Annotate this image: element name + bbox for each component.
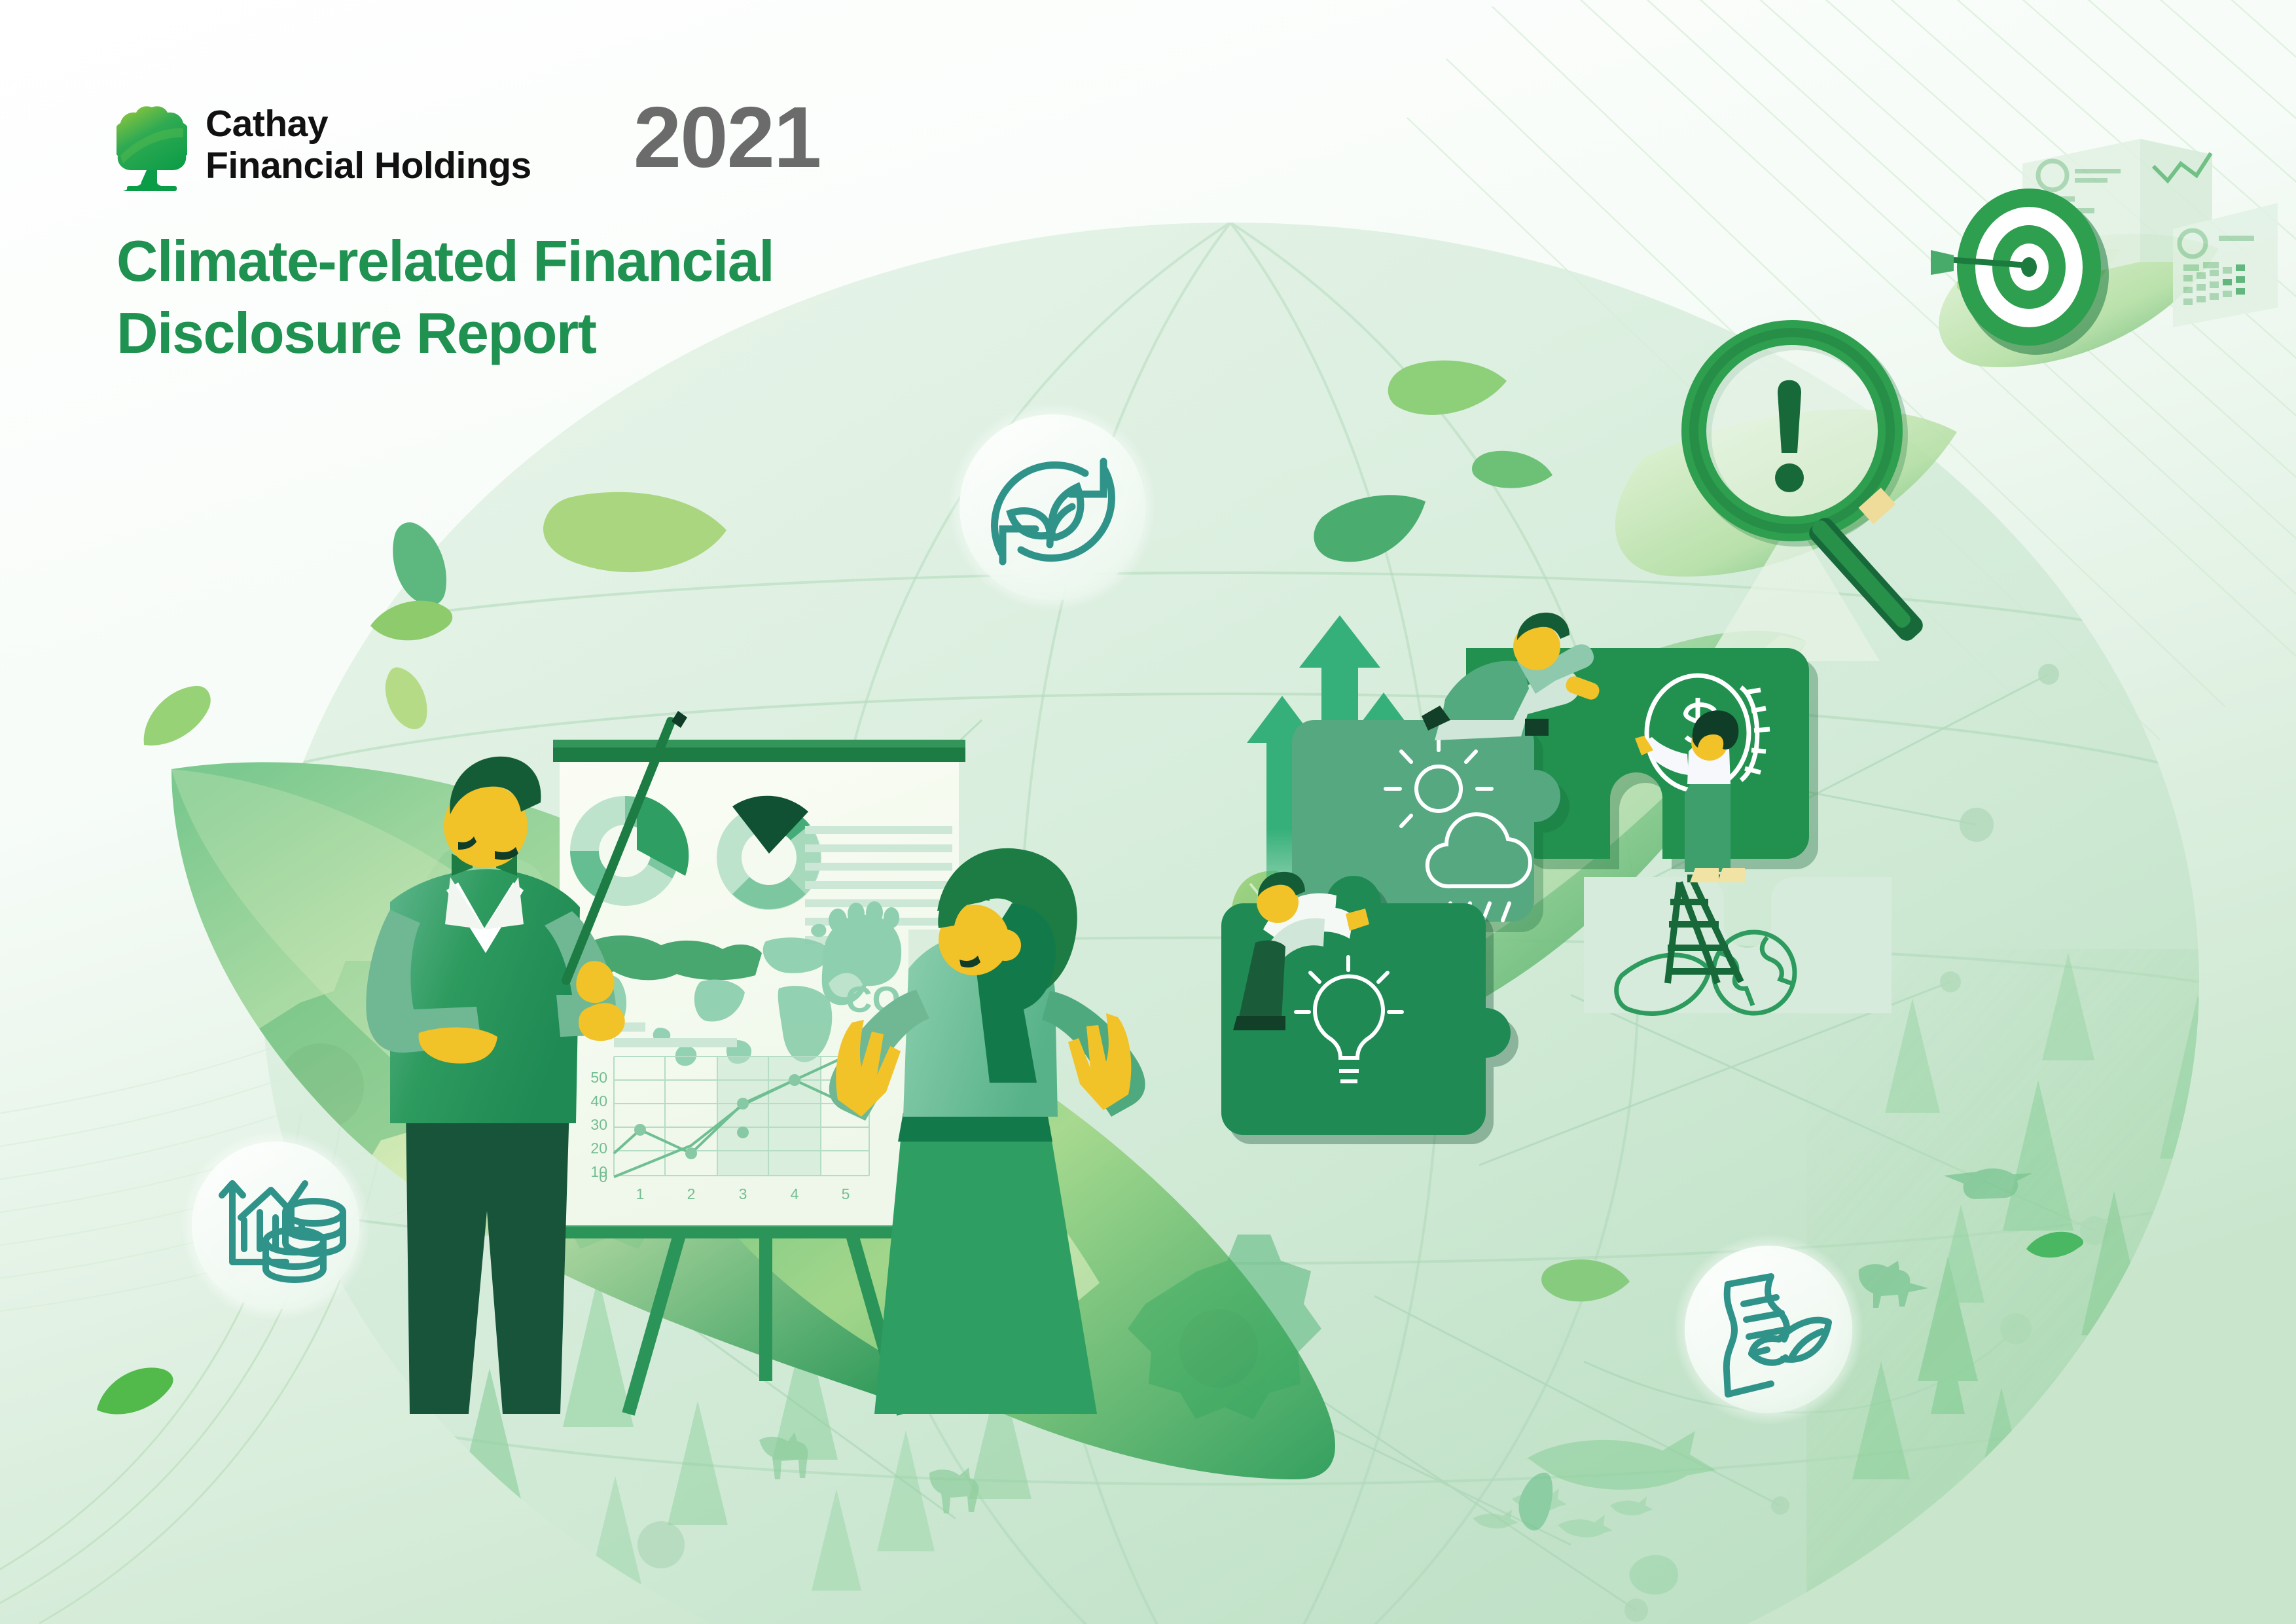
finance-growth-badge: [180, 1130, 371, 1321]
svg-text:2: 2: [687, 1185, 696, 1202]
cathay-tree-logo-icon: [117, 105, 187, 191]
report-cover: CO2: [0, 0, 2296, 1624]
title-line-1: Climate-related Financial: [117, 225, 820, 297]
svg-text:40: 40: [590, 1092, 607, 1110]
sustainability-cycle-badge: [948, 403, 1157, 612]
svg-text:4: 4: [791, 1185, 799, 1202]
svg-text:1: 1: [636, 1185, 645, 1202]
svg-text:20: 20: [590, 1140, 607, 1157]
brand-row: Cathay Financial Holdings 2021: [117, 98, 820, 191]
page-title: Climate-related Financial Disclosure Rep…: [117, 225, 820, 369]
green-report-badge: [1673, 1234, 1864, 1425]
svg-text:30: 30: [590, 1116, 607, 1133]
report-year: 2021: [634, 94, 821, 181]
svg-text:0: 0: [599, 1168, 607, 1185]
svg-text:50: 50: [590, 1069, 607, 1086]
svg-text:5: 5: [842, 1185, 850, 1202]
brand-line-2: Financial Holdings: [206, 145, 531, 187]
brand-name: Cathay Financial Holdings: [206, 98, 531, 187]
svg-text:3: 3: [739, 1185, 747, 1202]
title-line-2: Disclosure Report: [117, 297, 820, 369]
cover-header: Cathay Financial Holdings 2021 Climate-r…: [117, 98, 820, 369]
brand-line-1: Cathay: [206, 103, 531, 145]
